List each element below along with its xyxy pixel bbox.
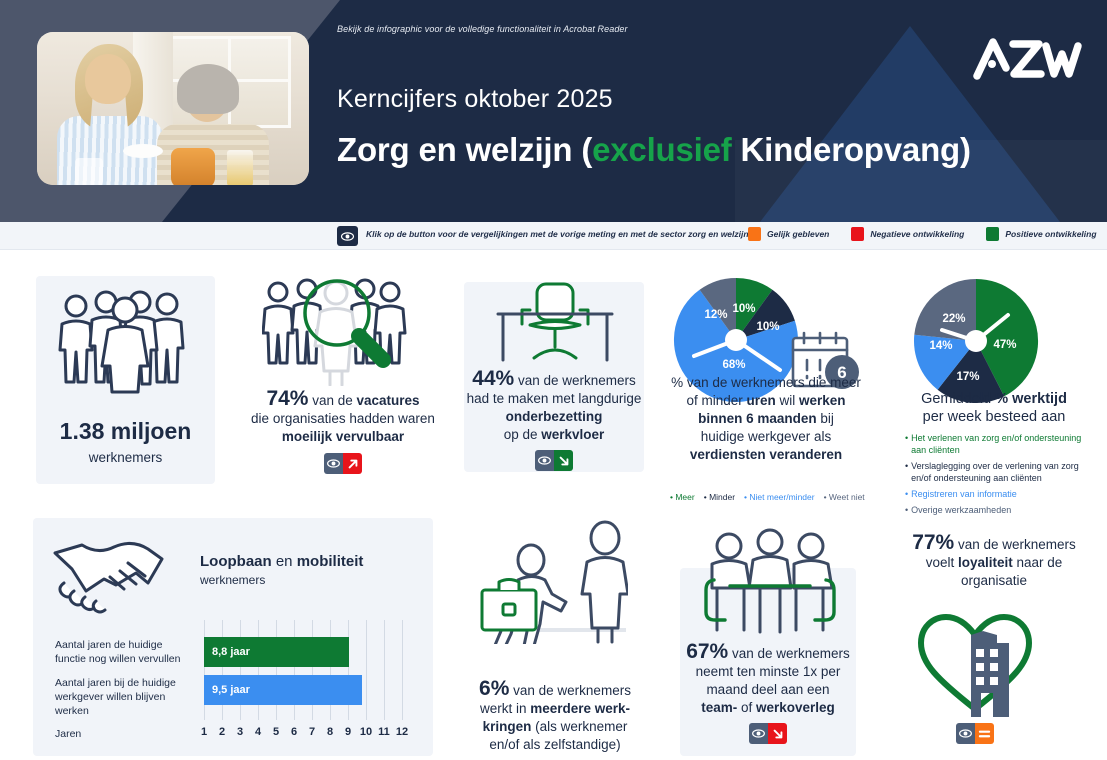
svg-text:10%: 10%	[756, 321, 779, 333]
title-part-1: Zorg en welzijn (	[337, 131, 592, 168]
gridline	[294, 620, 295, 720]
eye-icon	[324, 453, 343, 474]
desk-chair-icon	[490, 280, 618, 370]
page-title: Zorg en welzijn (exclusief Kinderopvang)	[337, 131, 971, 169]
worktime-stat: Gemiddeld % werktijd per week besteed aa…	[885, 390, 1103, 426]
meetings-line-3: maand deel aan een	[670, 681, 866, 699]
svg-text:14%: 14%	[929, 340, 952, 352]
worktime-legend-item-2: • Registreren van informatie	[905, 488, 1090, 500]
eye-icon	[749, 723, 768, 744]
people-group-icon	[55, 290, 197, 394]
handshake-icon	[52, 533, 168, 619]
hours-pie-legend: • Meer • Minder • Niet meer/minder • Wee…	[670, 492, 870, 502]
gridline	[204, 620, 205, 720]
vacancies-pct: 74%	[266, 387, 308, 410]
workers-stat: 1.38 miljoen werknemers	[36, 418, 215, 467]
workers-label: werknemers	[36, 449, 215, 467]
understaffing-line-3: onderbezetting	[464, 408, 644, 426]
meetings-l1-rest: van de werknemers	[728, 646, 850, 661]
hours-line-5: verdiensten veranderen	[660, 446, 872, 464]
xtick-6: 6	[285, 726, 303, 738]
hours-l3a: binnen 6 maanden	[698, 411, 817, 426]
hours-l2b: uren	[746, 393, 775, 408]
loyalty-l1-rest: van de werknemers	[954, 537, 1076, 552]
legend-item-positive: Positieve ontwikkeling	[986, 227, 1096, 241]
loyalty-pct: 77%	[912, 531, 954, 554]
hours-line-2: of minder uren wil werken	[660, 392, 872, 410]
hours-legend-label-0: Meer	[675, 492, 694, 502]
hours-l2a: of minder	[686, 393, 746, 408]
meetings-pct: 67%	[686, 640, 728, 663]
xtick-1: 1	[195, 726, 213, 738]
understaffing-line4-bold: werkvloer	[541, 427, 604, 442]
legend-swatch-orange	[748, 227, 761, 241]
arrow-down-right-icon	[768, 723, 787, 744]
career-bar-1: 9,5 jaar	[204, 675, 362, 705]
worktime-title: Gemiddeld % werktijd	[885, 390, 1103, 408]
eye-icon	[956, 723, 975, 744]
worktime-legend-item-1: • Verslaglegging over de verlening van z…	[905, 460, 1090, 484]
career-subtitle: werknemers	[200, 573, 420, 587]
vacancies-line-3: moeilijk vervulbaar	[240, 428, 446, 446]
multiwork-line-2: werkt in meerdere werk-	[455, 700, 655, 718]
vacancies-line-2: die organisaties hadden waren	[240, 410, 446, 428]
acrobat-note: Bekijk de infographic voor de volledige …	[337, 24, 628, 34]
worktime-legend-item-0: • Het verlenen van zorg en/of ondersteun…	[905, 432, 1090, 456]
hours-legend-0: • Meer	[670, 492, 695, 502]
career-header: Loopbaan en mobiliteit werknemers	[200, 553, 420, 587]
understaffing-stat: 44% van de werknemers had te maken met l…	[464, 370, 644, 471]
legend-item-negative: Negatieve ontwikkeling	[851, 227, 964, 241]
hours-legend-label-2: Niet meer/minder	[749, 492, 814, 502]
career-bar-0: 8,8 jaar	[204, 637, 349, 667]
legend-label-negative: Negatieve ontwikkeling	[870, 229, 964, 239]
understaffing-pct: 44%	[472, 367, 514, 390]
meetings-l4b: of	[737, 700, 756, 715]
multiwork-stat: 6% van de werknemers werkt in meerdere w…	[455, 680, 655, 754]
multiwork-line-4: en/of als zelfstandige)	[455, 736, 655, 754]
eye-icon	[535, 450, 554, 471]
legend-swatch-green	[986, 227, 999, 241]
understaffing-line-4: op de werkvloer	[464, 426, 644, 444]
career-x-axis: 1 2 3 4 5 6 7 8 9 10 11 12	[199, 726, 414, 742]
hours-l2d: werken	[799, 393, 846, 408]
xtick-5: 5	[267, 726, 285, 738]
career-axis-title: Jaren	[55, 728, 81, 740]
understaffing-line-2: had te maken met langdurige	[464, 390, 644, 408]
xtick-9: 9	[339, 726, 357, 738]
gridline	[258, 620, 259, 720]
career-title: Loopbaan en mobiliteit	[200, 553, 420, 570]
understaffing-compare-badge[interactable]	[535, 450, 573, 471]
legend-bar: Klik op de button voor de vergelijkingen…	[0, 222, 1107, 250]
bullet-icon: •	[905, 432, 908, 456]
header-kicker: Kerncijfers oktober 2025	[337, 85, 613, 114]
bullet-icon: •	[905, 460, 908, 484]
team-meeting-icon	[700, 528, 840, 638]
gridline	[330, 620, 331, 720]
meetings-compare-badge[interactable]	[749, 723, 787, 744]
understaffing-line4-pre: op de	[504, 427, 542, 442]
bullet-icon: •	[905, 488, 908, 500]
worktime-legend-label-3: Overige werkzaamheden	[911, 504, 1011, 516]
gridline	[312, 620, 313, 720]
gridline	[348, 620, 349, 720]
xtick-10: 10	[357, 726, 375, 738]
loyalty-l2-post: naar de	[1013, 555, 1063, 570]
hours-legend-label-3: Weet niet	[829, 492, 865, 502]
meetings-line-1: 67% van de werknemers	[670, 643, 866, 663]
worktime-legend-label-1: Verslaglegging over de verlening van zor…	[911, 460, 1090, 484]
meetings-stat: 67% van de werknemers neemt ten minste 1…	[670, 643, 866, 744]
vacancies-line-1: 74% van de vacatures	[240, 390, 446, 410]
hours-line-3: binnen 6 maanden bij	[660, 410, 872, 428]
multiwork-pct: 6%	[479, 677, 509, 700]
career-row-label-1: Aantal jaren bij de huidige werkgever wi…	[55, 676, 195, 718]
legend-label-positive: Positieve ontwikkeling	[1005, 229, 1096, 239]
meetings-l4a: team-	[701, 700, 737, 715]
multiwork-l1-rest: van de werknemers	[509, 683, 631, 698]
loyalty-line-2: voelt loyaliteit naar de	[885, 554, 1103, 572]
title-part-2: Kinderopvang)	[732, 131, 971, 168]
legend-swatch-red	[851, 227, 864, 241]
gridline	[222, 620, 223, 720]
title-accent: exclusief	[592, 131, 731, 168]
career-bar-label-1: 9,5 jaar	[204, 684, 250, 696]
multiwork-l3-bold: kringen	[483, 719, 532, 734]
worktime-legend-label-0: Het verlenen van zorg en/of ondersteunin…	[911, 432, 1090, 456]
multiwork-l3-rest: (als werknemer	[531, 719, 627, 734]
career-title-a: Loopbaan	[200, 553, 272, 570]
loyalty-badge-wrap	[956, 723, 994, 744]
career-title-b: en	[272, 553, 297, 570]
hours-stat: % van de werknemers die meer of minder u…	[660, 374, 872, 464]
understaffing-line-1: 44% van de werknemers	[464, 370, 644, 390]
bullet-icon: •	[905, 504, 908, 516]
header-banner: Bekijk de infographic voor de volledige …	[0, 0, 1107, 222]
worktime-subtitle: per week besteed aan	[885, 408, 1103, 426]
career-category-0: Aantal jaren de huidige functie nog will…	[55, 639, 181, 665]
xtick-12: 12	[393, 726, 411, 738]
loyalty-line-3: organisatie	[885, 572, 1103, 590]
multiwork-line-1: 6% van de werknemers	[455, 680, 655, 700]
worktime-title-b: % werktijd	[995, 391, 1067, 407]
multiwork-l2-bold: meerdere werk-	[530, 701, 630, 716]
xtick-4: 4	[249, 726, 267, 738]
svg-text:22%: 22%	[942, 313, 965, 325]
hours-legend-1: • Minder	[704, 492, 735, 502]
meetings-line-2: neemt ten minste 1x per	[670, 663, 866, 681]
svg-text:10%: 10%	[732, 303, 755, 315]
gridline	[402, 620, 403, 720]
equals-icon	[975, 723, 994, 744]
meetings-l4c: werkoverleg	[756, 700, 835, 715]
care-photo	[37, 32, 309, 185]
multiwork-l2-pre: werkt in	[480, 701, 530, 716]
legend-label-neutral: Gelijk gebleven	[767, 229, 829, 239]
vacancies-line1-bold: vacatures	[357, 393, 420, 408]
vacancies-compare-badge[interactable]	[324, 453, 362, 474]
worktime-title-a: Gemiddeld	[921, 391, 995, 407]
career-bar-chart: 8,8 jaar 9,5 jaar	[199, 620, 414, 720]
svg-text:68%: 68%	[722, 359, 745, 371]
understaffing-line1-rest: van de werknemers	[514, 373, 636, 388]
hours-line-1: % van de werknemers die meer	[660, 374, 872, 392]
xtick-11: 11	[375, 726, 393, 738]
legend-instruction: Klik op de button voor de vergelijkingen…	[366, 229, 751, 239]
eye-icon[interactable]	[337, 226, 358, 246]
arrow-down-right-icon	[554, 450, 573, 471]
infographic-page: Bekijk de infographic voor de volledige …	[0, 0, 1107, 760]
legend-items: Gelijk gebleven Negatieve ontwikkeling P…	[748, 227, 1097, 241]
vacancies-line1-rest: van de	[308, 393, 356, 408]
xtick-2: 2	[213, 726, 231, 738]
svg-text:12%: 12%	[704, 309, 727, 321]
loyalty-compare-badge[interactable]	[956, 723, 994, 744]
career-title-c: mobiliteit	[297, 553, 364, 570]
svg-text:47%: 47%	[993, 339, 1016, 351]
people-magnifier-icon	[262, 278, 420, 386]
hours-l3b: bij	[817, 411, 834, 426]
xtick-8: 8	[321, 726, 339, 738]
hours-legend-label-1: Minder	[709, 492, 735, 502]
gridline	[240, 620, 241, 720]
worktime-pie-chart: 22% 47% 17% 14%	[911, 276, 1041, 406]
xtick-3: 3	[231, 726, 249, 738]
loyalty-stat: 77% van de werknemers voelt loyaliteit n…	[885, 534, 1103, 590]
worker-walking-briefcase-icon	[468, 518, 628, 644]
gridline	[276, 620, 277, 720]
hours-l2c: wil	[776, 393, 799, 408]
loyalty-l2-pre: voelt	[926, 555, 958, 570]
career-bar-label-0: 8,8 jaar	[204, 646, 250, 658]
loyalty-line-1: 77% van de werknemers	[885, 534, 1103, 554]
worktime-legend-item-3: • Overige werkzaamheden	[905, 504, 1090, 516]
gridline	[384, 620, 385, 720]
heart-building-icon	[913, 605, 1037, 717]
workers-value: 1.38 miljoen	[36, 418, 215, 445]
worktime-legend-label-2: Registreren van informatie	[911, 488, 1017, 500]
hours-legend-2: • Niet meer/minder	[744, 492, 815, 502]
arrow-up-right-icon	[343, 453, 362, 474]
career-row-label-0: Aantal jaren de huidige functie nog will…	[55, 638, 195, 666]
multiwork-line-3: kringen (als werknemer	[455, 718, 655, 736]
hours-legend-3: • Weet niet	[824, 492, 865, 502]
xtick-7: 7	[303, 726, 321, 738]
legend-item-neutral: Gelijk gebleven	[748, 227, 829, 241]
meetings-line-4: team- of werkoverleg	[670, 699, 866, 717]
azw-logo-icon	[973, 34, 1083, 82]
gridline	[366, 620, 367, 720]
worktime-pie-legend: • Het verlenen van zorg en/of ondersteun…	[905, 432, 1090, 520]
vacancies-stat: 74% van de vacatures die organisaties ha…	[240, 390, 446, 474]
loyalty-l2-bold: loyaliteit	[958, 555, 1013, 570]
hours-line-4: huidige werkgever als	[660, 428, 872, 446]
career-category-1: Aantal jaren bij de huidige werkgever wi…	[55, 677, 176, 717]
svg-text:17%: 17%	[956, 371, 979, 383]
